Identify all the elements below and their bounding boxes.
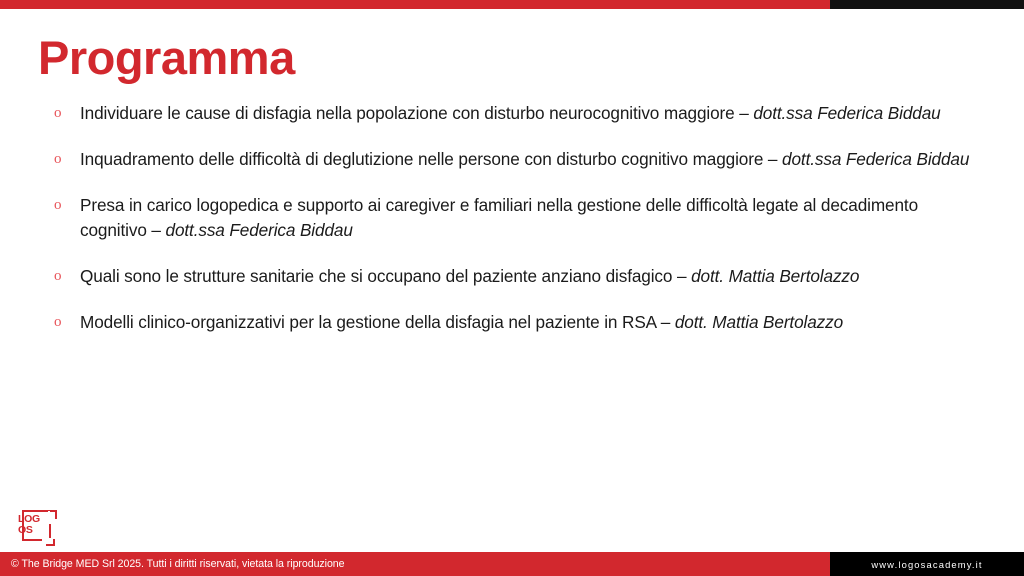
programme-list: o Individuare le cause di disfagia nella… [52,101,982,356]
footer-copyright-section: © The Bridge MED Srl 2025. Tutti i dirit… [0,552,830,576]
list-item-speaker: dott. Mattia Bertolazzo [691,266,859,286]
bullet-marker-icon: o [52,193,80,218]
logo-bracket-top-right-icon [50,510,57,519]
footer-bar: © The Bridge MED Srl 2025. Tutti i dirit… [0,552,1024,576]
bullet-marker-icon: o [52,147,80,172]
list-item-topic: Individuare le cause di disfagia nella p… [80,103,753,123]
list-item: o Modelli clinico-organizzativi per la g… [52,310,982,335]
list-item-text: Modelli clinico-organizzativi per la ges… [80,310,982,335]
list-item: o Quali sono le strutture sanitarie che … [52,264,982,289]
list-item: o Presa in carico logopedica e supporto … [52,193,982,243]
logo-wordmark: LOG OS [18,514,50,536]
list-item-text: Presa in carico logopedica e supporto ai… [80,193,982,243]
top-decorative-bar [0,0,1024,9]
list-item-text: Inquadramento delle difficoltà di deglut… [80,147,982,172]
list-item-topic: Inquadramento delle difficoltà di deglut… [80,149,782,169]
top-bar-black-segment [830,0,1024,9]
bullet-marker-icon: o [52,264,80,289]
list-item-speaker: dott.ssa Federica Biddau [782,149,969,169]
list-item-topic: Quali sono le strutture sanitarie che si… [80,266,691,286]
bullet-marker-icon: o [52,101,80,126]
list-item-topic: Modelli clinico-organizzativi per la ges… [80,312,675,332]
bullet-marker-icon: o [52,310,80,335]
logo-wordmark-line2: OS [18,525,50,536]
list-item: o Individuare le cause di disfagia nella… [52,101,982,126]
logo-bracket-bottom-right-icon [46,539,55,546]
logos-logo: LOG OS [18,508,56,546]
list-item-speaker: dott. Mattia Bertolazzo [675,312,843,332]
list-item-speaker: dott.ssa Federica Biddau [753,103,940,123]
page-title: Programma [38,33,295,84]
list-item: o Inquadramento delle difficoltà di degl… [52,147,982,172]
list-item-text: Quali sono le strutture sanitarie che si… [80,264,982,289]
top-bar-red-segment [0,0,830,9]
footer-website-section: www.logosacademy.it [830,552,1024,576]
list-item-speaker: dott.ssa Federica Biddau [166,220,353,240]
footer-copyright-text: © The Bridge MED Srl 2025. Tutti i dirit… [0,558,345,570]
footer-website-text: www.logosacademy.it [871,559,982,570]
list-item-text: Individuare le cause di disfagia nella p… [80,101,982,126]
